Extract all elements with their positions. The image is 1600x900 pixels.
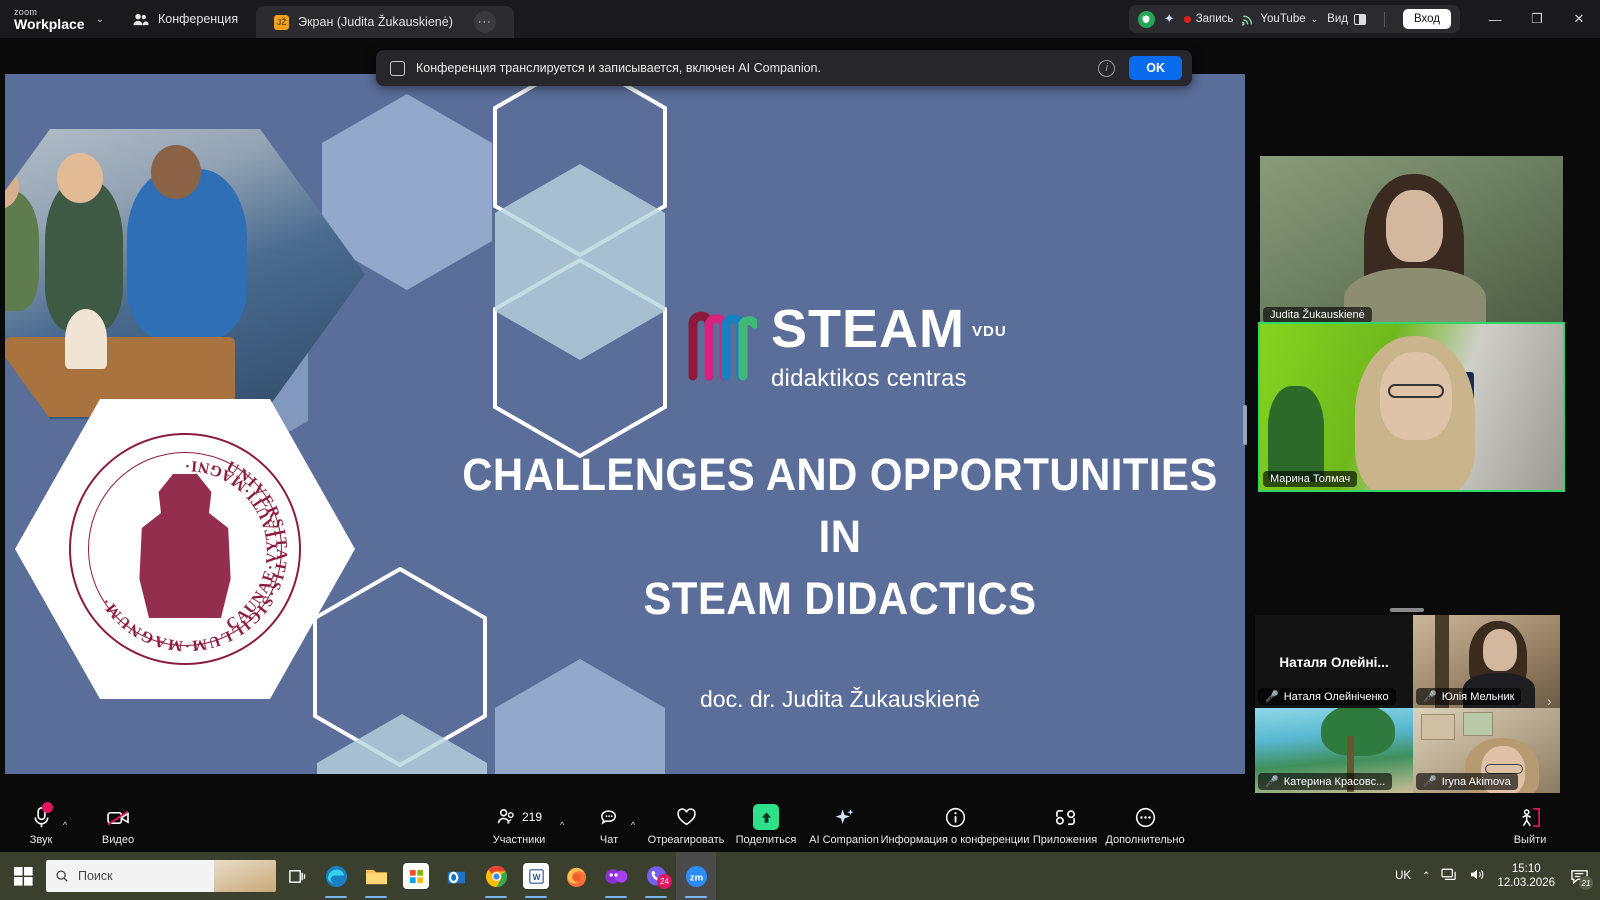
tile-name-katerina: 🎤 Катерина Красовс...: [1258, 773, 1392, 790]
steam-wordmark: STEAM: [771, 302, 965, 356]
layout-grid-icon: [1354, 14, 1366, 25]
apps-label: Приложения: [1033, 834, 1097, 846]
video-tile-yulia[interactable]: 🎤 Юлія Мельник: [1413, 615, 1560, 708]
video-tile-katerina[interactable]: 🎤 Катерина Красовс...: [1255, 708, 1413, 793]
participants-icon: 219: [496, 804, 542, 830]
chat-label: Чат: [600, 834, 618, 846]
microphone-muted-icon: 🎤: [1265, 690, 1279, 703]
more-button[interactable]: Дополнительно: [1090, 804, 1200, 846]
strip-resize-handle[interactable]: [1390, 608, 1424, 612]
titlebar-right-controls: ✦ Запись YouTube ⌄ Вид Вход — ❐: [1129, 0, 1600, 38]
login-button[interactable]: Вход: [1403, 9, 1451, 29]
edge-icon[interactable]: [316, 852, 356, 900]
video-tile-judita[interactable]: Judita Žukauskienė: [1260, 156, 1563, 326]
language-indicator[interactable]: UK: [1395, 870, 1411, 882]
people-icon: [132, 11, 149, 28]
video-tile-marina[interactable]: Марина Толмач: [1258, 322, 1565, 492]
chrome-icon[interactable]: [476, 852, 516, 900]
strip-next-arrow-icon[interactable]: ›: [1547, 693, 1552, 709]
participants-count: 219: [522, 810, 542, 824]
tab-shared-screen[interactable]: JŽ Экран (Judita Žukauskienė) ···: [256, 6, 514, 38]
microphone-muted-icon: [31, 804, 52, 830]
notification-center-icon[interactable]: 21: [1566, 863, 1592, 889]
leave-label: Выйти: [1514, 834, 1547, 846]
search-placeholder: Поиск: [78, 869, 113, 883]
steam-word-row: STEAM VDU: [771, 302, 1007, 359]
camera-off-icon: [106, 804, 131, 830]
more-label: Дополнительно: [1105, 834, 1184, 846]
share-label: Поделиться: [736, 834, 797, 846]
tile-name-yulia: 🎤 Юлія Мельник: [1416, 688, 1521, 705]
close-button[interactable]: ✕: [1558, 0, 1600, 38]
search-bird-image: [214, 860, 276, 892]
ai-companion-label: AI Companion: [809, 834, 879, 846]
tile-name-marina: Марина Толмач: [1263, 471, 1357, 487]
steam-wave-mark: [685, 302, 757, 382]
record-dot-icon: [1184, 16, 1191, 23]
brand-small: zoom: [14, 7, 86, 17]
brand-main: Workplace: [14, 17, 86, 32]
participants-label: Участники: [493, 834, 546, 846]
ai-sparkle-icon: [833, 804, 856, 830]
audio-label: Звук: [30, 834, 53, 846]
title-bar: zoom Workplace ⌄ Конференция JŽ Экран (J…: [0, 0, 1600, 38]
restore-button[interactable]: ❐: [1516, 0, 1558, 38]
meeting-info-button[interactable]: Информация о конференции: [900, 804, 1010, 846]
task-view-icon[interactable]: [276, 852, 316, 900]
tile-name-judita: Judita Žukauskienė: [1263, 307, 1372, 323]
youtube-stream-control[interactable]: YouTube ⌄: [1242, 13, 1318, 26]
seal-emblem: UNIVERSITATIS·SIGILLUM·MAGNUM· CAUNAE·VY…: [69, 433, 301, 665]
share-screen-icon: [753, 804, 779, 830]
minimize-button[interactable]: —: [1474, 0, 1516, 38]
broadcast-icon: [1242, 13, 1255, 26]
share-square: [753, 804, 779, 830]
chat-icon: [599, 804, 620, 830]
meeting-toolbar: Звук ^ Видео 219 Участники ^ Чат ^: [0, 800, 1600, 852]
heart-icon: [675, 804, 698, 830]
youtube-label: YouTube: [1260, 13, 1305, 25]
volume-icon[interactable]: [1469, 867, 1486, 885]
brand-chevron-down-icon[interactable]: ⌄: [86, 14, 114, 25]
info-icon[interactable]: i: [1098, 60, 1115, 77]
steam-logo-text: STEAM VDU didaktikos centras: [771, 302, 1007, 393]
start-button[interactable]: [0, 852, 46, 900]
vdu-superscript: VDU: [972, 305, 1007, 359]
meeting-info-label: Информация о конференции: [881, 834, 1030, 846]
tab-more-icon[interactable]: ···: [474, 11, 496, 33]
word-icon[interactable]: W: [516, 852, 556, 900]
viber-icon[interactable]: 24: [636, 852, 676, 900]
svg-text:zm: zm: [689, 872, 702, 883]
tab-conference[interactable]: Конференция: [114, 0, 256, 38]
shared-screen-content[interactable]: UNIVERSITATIS·SIGILLUM·MAGNUM· CAUNAE·VY…: [5, 74, 1245, 774]
divider: [1384, 12, 1385, 27]
video-tile-natalia[interactable]: Наталя Олейні... 🎤 Наталя Олейніченко: [1255, 615, 1413, 708]
video-label: Видео: [102, 834, 134, 846]
view-label: Вид: [1327, 13, 1348, 25]
view-control[interactable]: Вид: [1327, 13, 1366, 25]
youtube-chevron-down-icon: ⌄: [1311, 14, 1319, 25]
zoom-icon[interactable]: zm: [676, 852, 716, 900]
screen-share-icon: [390, 61, 405, 76]
network-icon[interactable]: [1441, 867, 1458, 885]
leave-meeting-icon: [1518, 804, 1543, 830]
video-button[interactable]: Видео: [63, 804, 173, 846]
tray-expand-icon[interactable]: ⌃: [1422, 871, 1430, 882]
ai-sparkle-icon[interactable]: ✦: [1164, 11, 1175, 27]
video-tile-iryna[interactable]: 🎤 Iryna Akimova: [1413, 708, 1560, 793]
tile-name-iryna: 🎤 Iryna Akimova: [1416, 773, 1518, 790]
stage-scrollbar[interactable]: [1243, 405, 1247, 445]
tile-center-name-natalia: Наталя Олейні...: [1255, 655, 1413, 670]
notification-count: 21: [1579, 876, 1593, 890]
clock-date: 12.03.2026: [1497, 876, 1555, 890]
zoom-logo: zoom Workplace: [0, 7, 86, 32]
purple-app-icon[interactable]: [596, 852, 636, 900]
tile-name-yulia-label: Юлія Мельник: [1442, 691, 1515, 703]
clock[interactable]: 15:10 12.03.2026: [1497, 862, 1555, 890]
svg-text:W: W: [532, 871, 540, 881]
windows-taskbar: Поиск W: [0, 852, 1600, 900]
leave-meeting-button[interactable]: Выйти: [1475, 804, 1585, 846]
banner-ok-button[interactable]: OK: [1129, 56, 1182, 80]
status-pill: ✦ Запись YouTube ⌄ Вид Вход: [1129, 5, 1460, 33]
info-icon: [944, 804, 967, 830]
tab-shared-screen-label: Экран (Judita Žukauskienė): [298, 15, 453, 29]
tile-name-iryna-label: Iryna Akimova: [1442, 776, 1511, 788]
steam-subtitle: didaktikos centras: [771, 365, 1007, 393]
banner-text: Конференция транслируется и записывается…: [416, 61, 821, 75]
microphone-muted-icon: 🎤: [1265, 775, 1279, 788]
search-icon: [55, 869, 69, 883]
jz-avatar-icon: JŽ: [274, 15, 289, 30]
slide-title: CHALLENGES AND OPPORTUNITIES IN STEAM DI…: [445, 444, 1236, 630]
search-input[interactable]: Поиск: [46, 860, 276, 892]
audio-alert-badge: [42, 802, 53, 813]
steam-logo: STEAM VDU didaktikos centras: [685, 302, 1007, 393]
microsoft-store-icon[interactable]: [396, 852, 436, 900]
clock-time: 15:10: [1512, 862, 1541, 876]
zoom-meeting-window: zoom Workplace ⌄ Конференция JŽ Экран (J…: [0, 0, 1600, 900]
firefox-icon[interactable]: [556, 852, 596, 900]
shield-check-icon[interactable]: [1138, 11, 1155, 28]
viber-badge: 24: [657, 874, 672, 889]
recording-label: Запись: [1196, 13, 1234, 25]
tab-conference-label: Конференция: [158, 12, 238, 26]
system-tray: UK ⌃ 15:10 12.03.2026 21: [1395, 852, 1600, 900]
more-dots-icon: [1134, 804, 1157, 830]
microphone-muted-icon: 🎤: [1423, 775, 1437, 788]
slide-author: doc. dr. Judita Žukauskienė: [415, 686, 1245, 713]
tile-name-katerina-label: Катерина Красовс...: [1284, 776, 1386, 788]
microphone-muted-icon: 🎤: [1423, 690, 1437, 703]
tile-name-natalia-label: Наталя Олейніченко: [1284, 691, 1389, 703]
tile-name-natalia: 🎤 Наталя Олейніченко: [1258, 688, 1396, 705]
recording-indicator[interactable]: Запись: [1184, 13, 1234, 25]
file-explorer-icon[interactable]: [356, 852, 396, 900]
slide-title-line-2: STEAM DIDACTICS: [445, 568, 1236, 630]
recording-notice-banner: Конференция транслируется и записывается…: [376, 50, 1192, 86]
apps-icon: [1053, 804, 1078, 830]
outlook-icon[interactable]: [436, 852, 476, 900]
slide-title-line-1: CHALLENGES AND OPPORTUNITIES IN: [445, 444, 1236, 568]
